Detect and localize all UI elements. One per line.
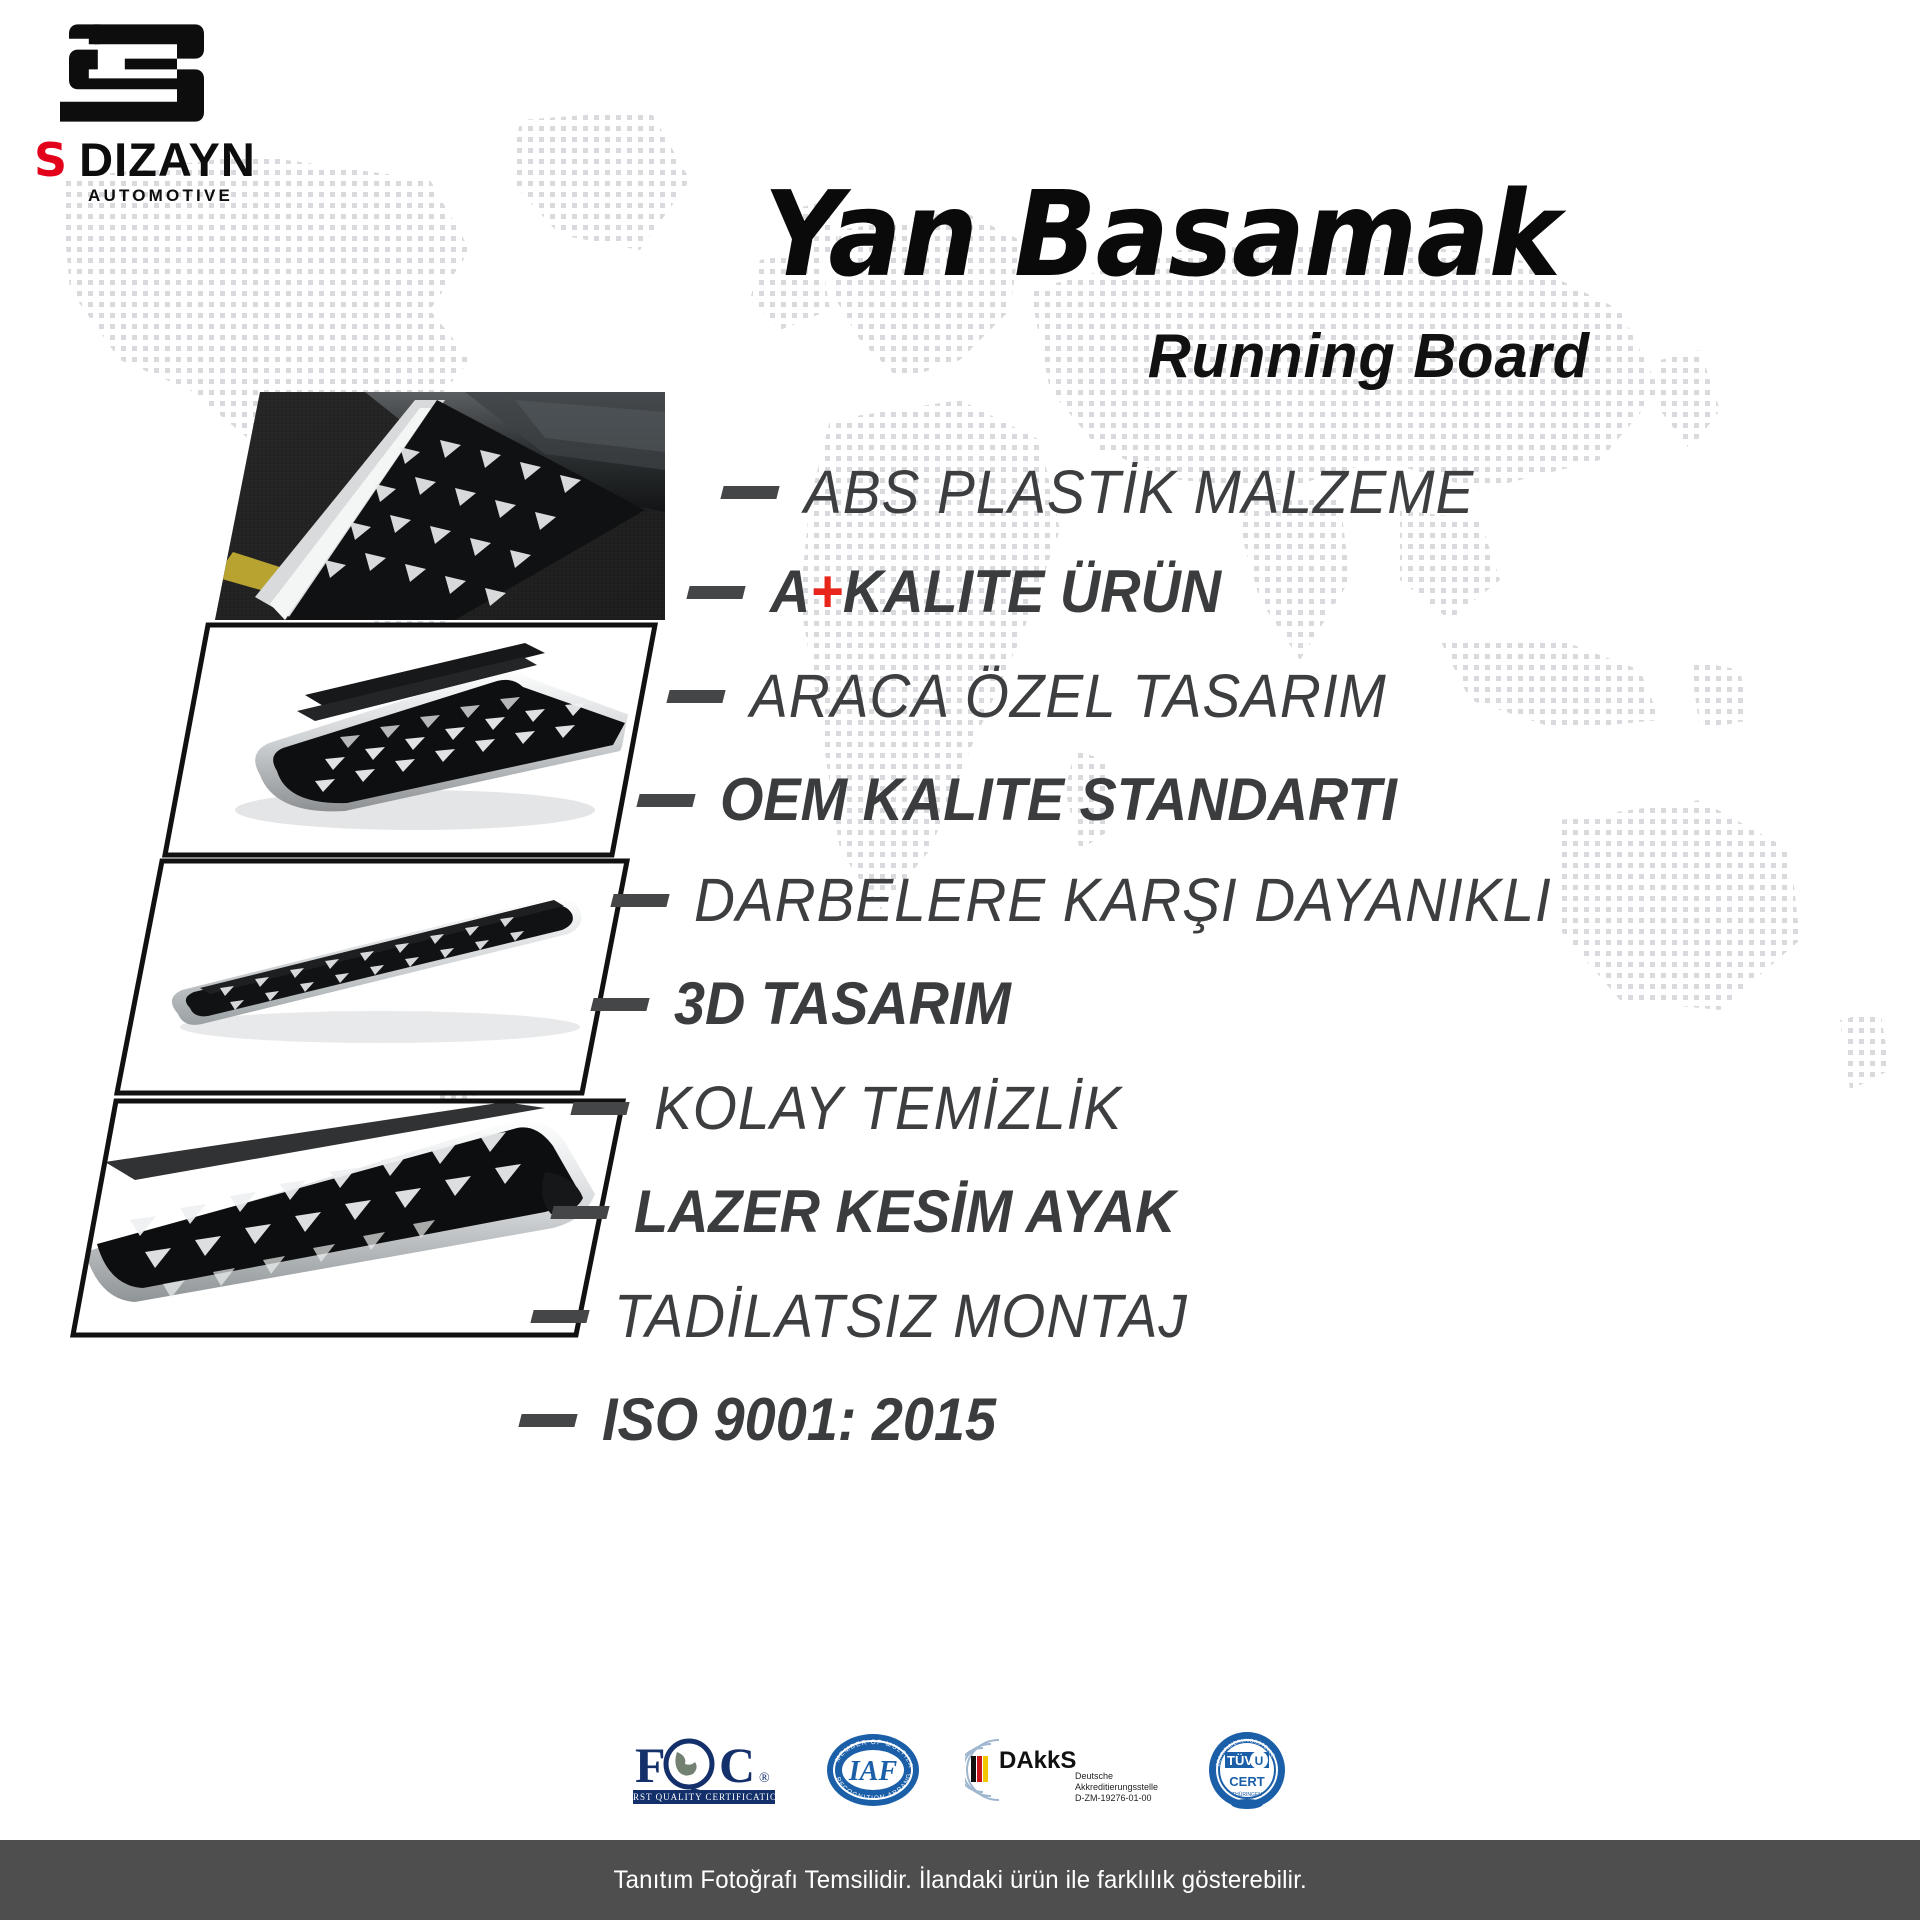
iaf-certification-logo: IAF MEMBER OF MULTILATERAL RECOGNITION A… — [825, 1732, 921, 1808]
svg-text:THÜRINGEN: THÜRINGEN — [1232, 1791, 1262, 1798]
feature-label: ABS PLASTİK MALZEME — [804, 462, 1474, 523]
svg-text:D-ZM-19276-01-00: D-ZM-19276-01-00 — [1075, 1793, 1152, 1803]
page-title: Yan Basamak — [125, 175, 1560, 293]
svg-text:®: ® — [759, 1771, 770, 1786]
feature-item: TADİLATSIZ MONTAJ — [532, 1286, 1231, 1347]
feature-label: TADİLATSIZ MONTAJ — [614, 1286, 1188, 1347]
logo-accent-letter: S — [34, 137, 66, 183]
feature-item: ARACA ÖZEL TASARIM — [668, 666, 1435, 727]
feature-item: ABS PLASTİK MALZEME — [722, 462, 1525, 523]
fqc-certification-logo: F C ® FIRST QUALITY CERTIFICATION — [631, 1732, 781, 1808]
dash-bullet-icon — [610, 894, 669, 907]
feature-item: KOLAY TEMİZLİK — [572, 1078, 1157, 1139]
feature-item: 3D TASARIM — [592, 974, 1036, 1034]
svg-text:C: C — [719, 1737, 755, 1793]
svg-text:Akkreditierungsstelle: Akkreditierungsstelle — [1075, 1782, 1158, 1792]
dakks-certification-logo: DAkkS Deutsche Akkreditierungsstelle D-Z… — [965, 1734, 1161, 1806]
feature-label: OEM KALITE STANDARTI — [720, 770, 1397, 830]
feature-item: DARBELERE KARŞI DAYANIKLI — [612, 870, 1616, 931]
certification-logos: F C ® FIRST QUALITY CERTIFICATION IAF ME… — [0, 1730, 1920, 1810]
page-subtitle: Running Board — [64, 326, 1590, 388]
dash-bullet-icon — [550, 1206, 609, 1219]
feature-label: 3D TASARIM — [674, 974, 1011, 1034]
feature-label: LAZER KESİM AYAK — [634, 1182, 1175, 1242]
dash-bullet-icon — [636, 794, 695, 807]
feature-label: A+KALITE ÜRÜN — [770, 562, 1221, 622]
svg-text:U: U — [1255, 1754, 1264, 1768]
s-dizayn-logo-mark — [42, 18, 222, 128]
dash-bullet-icon — [666, 690, 725, 703]
dash-bullet-icon — [530, 1310, 589, 1323]
feature-label: ARACA ÖZEL TASARIM — [750, 666, 1387, 727]
svg-text:DAkkS: DAkkS — [999, 1747, 1076, 1774]
poster-canvas: S DIZAYN AUTOMOTIVE Yan Basamak Running … — [0, 0, 1920, 1920]
plus-accent: + — [810, 558, 843, 625]
dash-bullet-icon — [570, 1102, 629, 1115]
tuv-cert-logo: TÜV U CERT THÜRINGEN ZERTIFIZIERUNGSSTEL… — [1205, 1730, 1289, 1810]
svg-text:TÜV: TÜV — [1227, 1753, 1253, 1768]
svg-text:F: F — [635, 1737, 666, 1793]
footer-bar: Tanıtım Fotoğrafı Temsilidir. İlandaki ü… — [0, 1840, 1920, 1920]
feature-item: A+KALITE ÜRÜN — [688, 562, 1255, 622]
dash-bullet-icon — [686, 586, 745, 599]
svg-text:FIRST QUALITY CERTIFICATION: FIRST QUALITY CERTIFICATION — [631, 1792, 781, 1802]
svg-text:Deutsche: Deutsche — [1075, 1771, 1113, 1781]
feature-label: DARBELERE KARŞI DAYANIKLI — [694, 870, 1552, 931]
dash-bullet-icon — [590, 998, 649, 1011]
feature-label: KOLAY TEMİZLİK — [654, 1078, 1122, 1139]
svg-text:IAF: IAF — [848, 1756, 898, 1787]
dash-bullet-icon — [518, 1414, 577, 1427]
dash-bullet-icon — [720, 486, 779, 499]
feature-label: ISO 9001: 2015 — [602, 1390, 996, 1450]
feature-item: LAZER KESİM AYAK — [552, 1182, 1216, 1242]
svg-text:CERT: CERT — [1229, 1774, 1264, 1789]
feature-item: OEM KALITE STANDARTI — [638, 770, 1448, 830]
feature-list: ABS PLASTİK MALZEME A+KALITE ÜRÜN ARACA … — [520, 440, 1920, 1560]
feature-item: ISO 9001: 2015 — [520, 1390, 1026, 1450]
footer-disclaimer: Tanıtım Fotoğrafı Temsilidir. İlandaki ü… — [613, 1866, 1306, 1895]
